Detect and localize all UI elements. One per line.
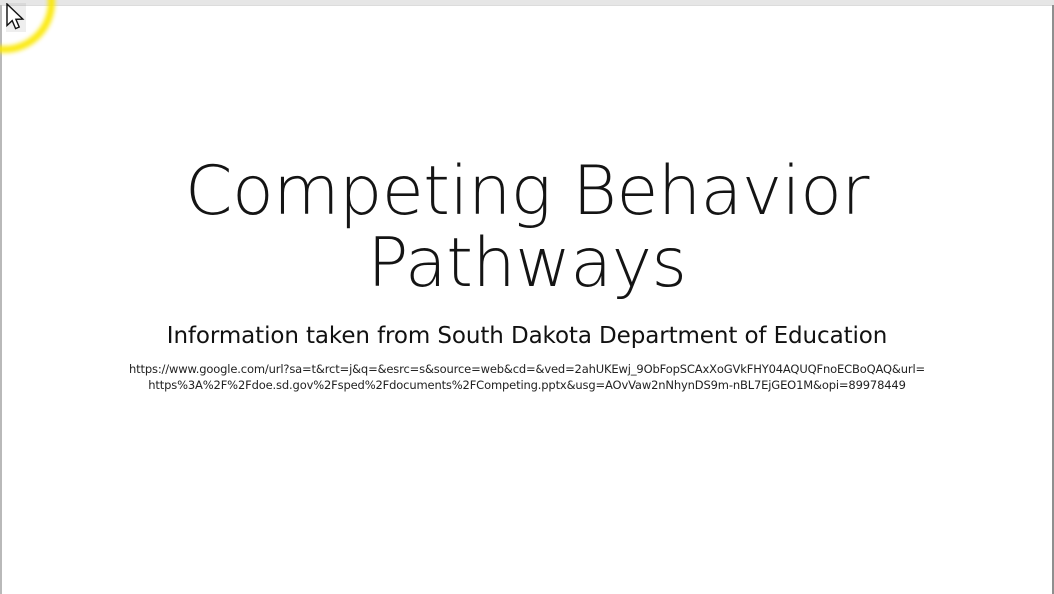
slide-source-link: https://www.google.com/url?sa=t&rct=j&q=…: [127, 361, 927, 393]
slide-subtitle: Information taken from South Dakota Depa…: [2, 321, 1052, 351]
presentation-slide: Competing Behavior Pathways Information …: [2, 6, 1052, 594]
slide-viewport: Competing Behavior Pathways Information …: [0, 0, 1054, 594]
slide-title: Competing Behavior Pathways: [2, 156, 1052, 300]
